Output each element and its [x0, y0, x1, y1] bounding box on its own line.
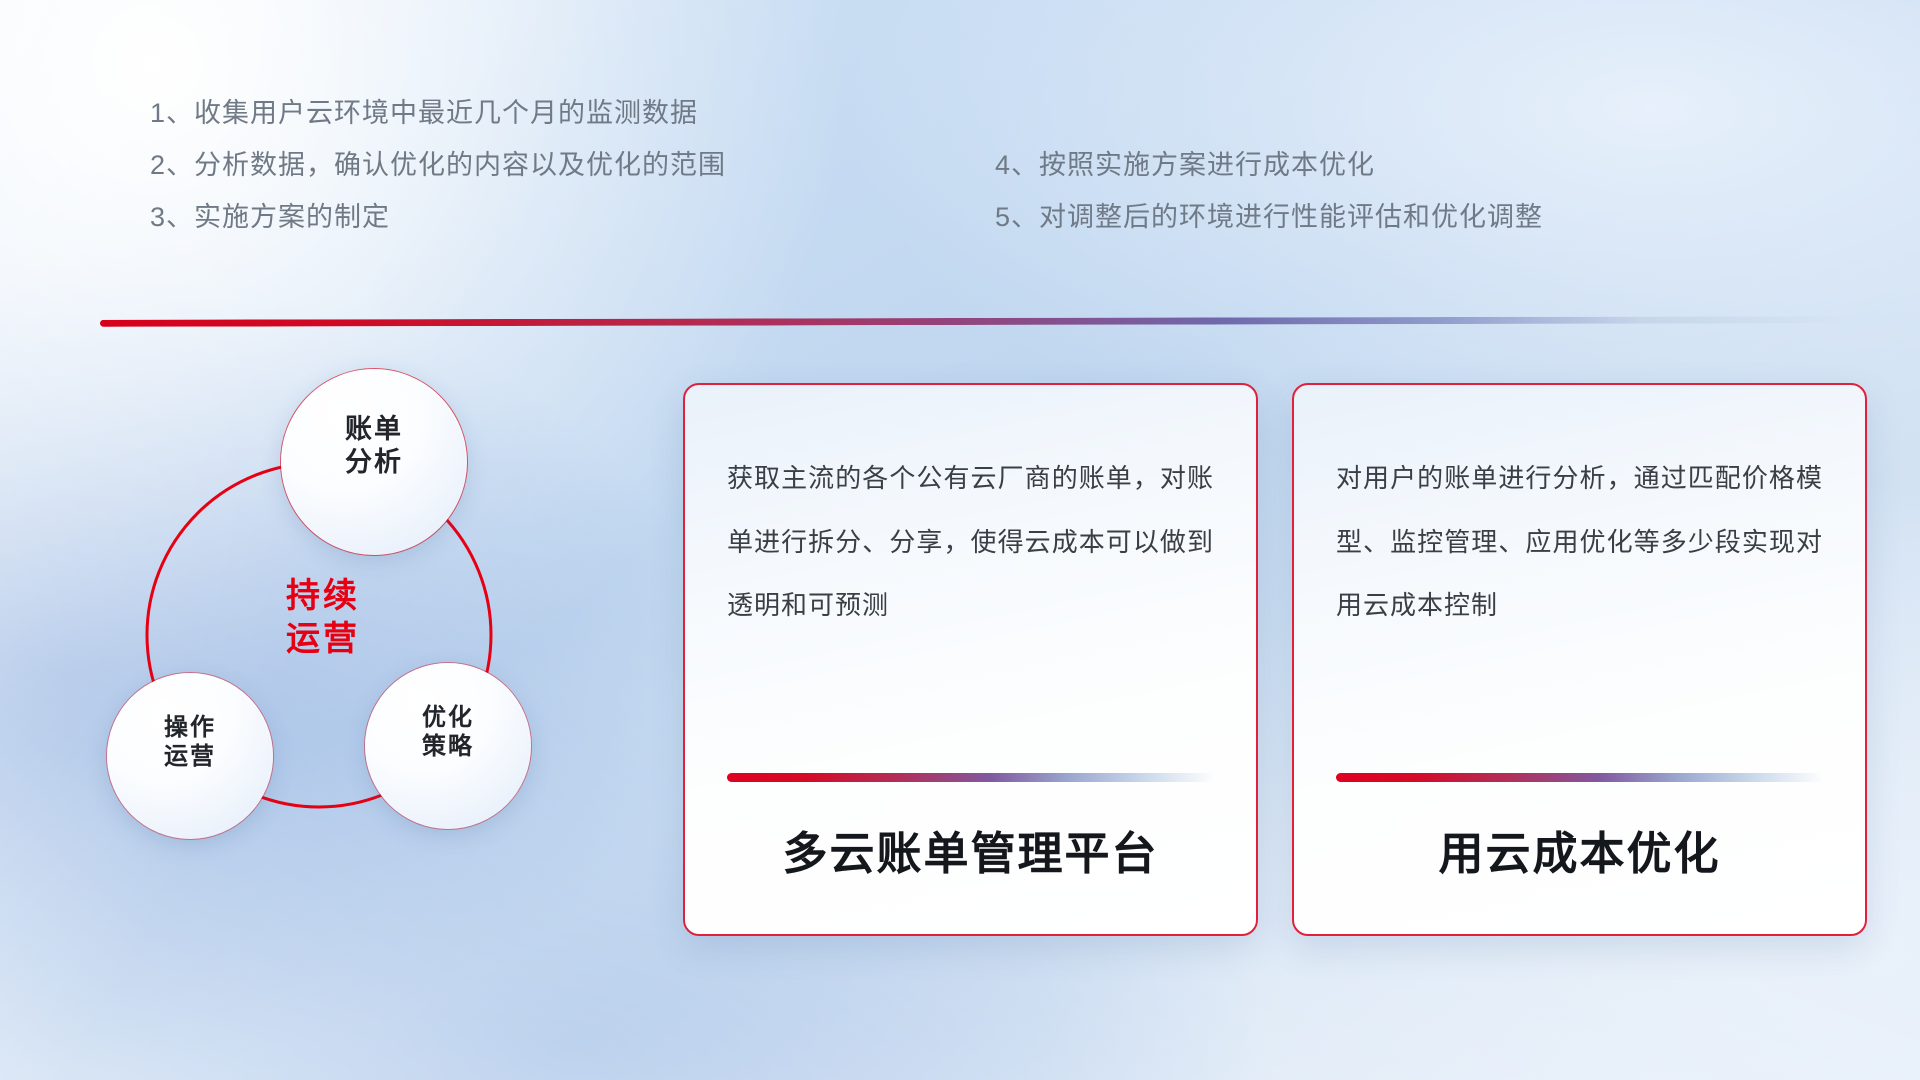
- card-multi-cloud-billing-platform[interactable]: 获取主流的各个公有云厂商的账单，对账单进行拆分、分享，使得云成本可以做到透明和可…: [683, 383, 1258, 936]
- step-list-left: 1、收集用户云环境中最近几个月的监测数据 2、分析数据，确认优化的内容以及优化的…: [150, 100, 726, 256]
- list-item: 4、按照实施方案进行成本优化: [995, 152, 1543, 179]
- list-item: 1、收集用户云环境中最近几个月的监测数据: [150, 100, 726, 127]
- bubble-label: 操作 运营: [107, 713, 273, 772]
- center-label-line1: 持续: [286, 577, 360, 615]
- list-item: 5、对调整后的环境进行性能评估和优化调整: [995, 204, 1543, 231]
- bubble-label-line1: 账单: [345, 414, 403, 444]
- list-item: 3、实施方案的制定: [150, 204, 726, 231]
- card-cloud-cost-optimization[interactable]: 对用户的账单进行分析，通过匹配价格模型、监控管理、应用优化等多少段实现对用云成本…: [1292, 383, 1867, 936]
- diagram-center-label: 持续 运营: [243, 575, 403, 661]
- bubble-label-line2: 分析: [345, 447, 403, 477]
- continuous-operation-diagram: 账单 分析 操作 运营 优化 策略 持续 运营: [95, 355, 655, 955]
- card-title: 多云账单管理平台: [685, 817, 1256, 882]
- diagram-bubble-ops-operation[interactable]: 操作 运营: [107, 673, 273, 839]
- bubble-label-line2: 策略: [422, 733, 474, 760]
- diagram-bubble-optimize-policy[interactable]: 优化 策略: [365, 663, 531, 829]
- bubble-label: 账单 分析: [281, 413, 467, 479]
- card-body-text: 获取主流的各个公有云厂商的账单，对账单进行拆分、分享，使得云成本可以做到透明和可…: [727, 447, 1214, 638]
- bubble-label-line1: 优化: [422, 704, 474, 731]
- card-accent-rule: [727, 773, 1215, 782]
- card-title: 用云成本优化: [1294, 817, 1865, 882]
- step-list-right: 4、按照实施方案进行成本优化 5、对调整后的环境进行性能评估和优化调整: [995, 152, 1543, 256]
- diagram-bubble-bill-analysis[interactable]: 账单 分析: [281, 369, 467, 555]
- bubble-label: 优化 策略: [365, 703, 531, 762]
- bubble-label-line1: 操作: [164, 714, 216, 741]
- bubble-label-line2: 运营: [164, 743, 216, 770]
- center-label-line2: 运营: [286, 620, 360, 658]
- card-accent-rule: [1336, 773, 1824, 782]
- card-body-text: 对用户的账单进行分析，通过匹配价格模型、监控管理、应用优化等多少段实现对用云成本…: [1336, 447, 1823, 638]
- list-item: 2、分析数据，确认优化的内容以及优化的范围: [150, 152, 726, 179]
